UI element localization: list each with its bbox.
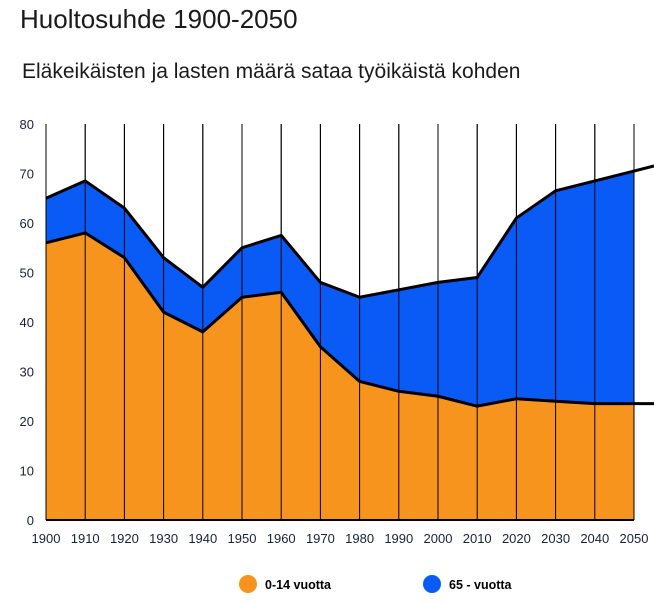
x-tick-label: 2040 [580,531,609,546]
y-axis-tick-labels: 01020304050607080 [20,117,34,528]
x-tick-label: 1900 [32,531,61,546]
y-tick-label: 0 [27,513,34,528]
x-tick-label: 1990 [384,531,413,546]
x-tick-label: 1920 [110,531,139,546]
y-tick-label: 80 [20,117,34,132]
x-tick-label: 1930 [149,531,178,546]
y-tick-label: 40 [20,315,34,330]
x-tick-label: 2050 [620,531,649,546]
y-tick-label: 60 [20,216,34,231]
x-tick-label: 1970 [306,531,335,546]
chart-legend: 0-14 vuotta65 - vuotta [239,575,513,593]
x-tick-label: 1960 [267,531,296,546]
x-tick-label: 2000 [424,531,453,546]
legend-label: 65 - vuotta [449,578,513,592]
x-tick-label: 2030 [541,531,570,546]
x-tick-label: 1980 [345,531,374,546]
x-tick-label: 2020 [502,531,531,546]
y-tick-label: 30 [20,365,34,380]
y-tick-label: 20 [20,414,34,429]
area-chart-svg: 01020304050607080 1900191019201930194019… [0,0,654,604]
x-tick-label: 2010 [463,531,492,546]
legend-swatch-icon [423,575,441,593]
x-tick-label: 1940 [188,531,217,546]
y-tick-label: 10 [20,464,34,479]
legend-label: 0-14 vuotta [265,578,332,592]
x-tick-label: 1950 [228,531,257,546]
legend-swatch-icon [239,575,257,593]
x-tick-label: 1910 [71,531,100,546]
x-axis-tick-labels: 1900191019201930194019501960197019801990… [32,531,649,546]
y-tick-label: 70 [20,167,34,182]
chart-plot-area: 01020304050607080 1900191019201930194019… [0,0,654,604]
y-tick-label: 50 [20,266,34,281]
stacked-area-series [46,171,634,520]
